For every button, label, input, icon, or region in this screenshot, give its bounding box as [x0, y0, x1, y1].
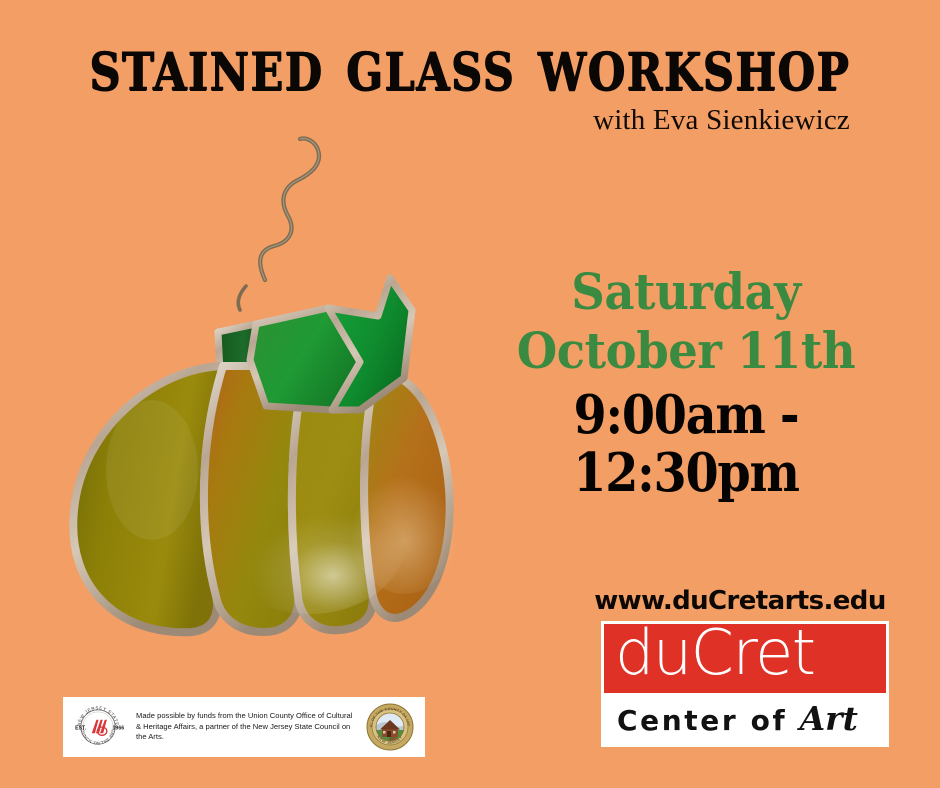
flyer-canvas: Stained Glass Workshop with Eva Sienkiew…: [0, 0, 940, 788]
svg-text:EST.: EST.: [75, 726, 87, 732]
glass-tendril: [238, 138, 319, 310]
ducret-tagline-center-of: Center of: [617, 704, 800, 737]
union-county-seal-icon: SEAL OF THE COUNTY OF UNION NEW JERSEY: [365, 702, 415, 752]
svg-text:1966: 1966: [113, 726, 124, 732]
nj-state-council-seal-icon: NEW JERSEY STATE COUNCIL ON THE ARTS EST…: [72, 701, 124, 753]
ducret-wordmark: duCret: [615, 624, 815, 689]
event-day: Saturday: [476, 262, 896, 321]
glass-leaves: [250, 278, 412, 410]
title-block: Stained Glass Workshop: [0, 28, 940, 89]
page-title: Stained Glass Workshop: [0, 28, 940, 102]
ducret-logo[interactable]: duCret Center of Art: [601, 621, 889, 747]
website-url[interactable]: www.duCretarts.edu: [560, 586, 920, 616]
ducret-tagline-art: Art: [800, 699, 858, 738]
event-time: 9:00am - 12:30pm: [483, 386, 890, 503]
funding-credit-text: Made possible by funds from the Union Co…: [124, 711, 365, 743]
event-date-block: Saturday October 11th 9:00am - 12:30pm: [460, 262, 912, 503]
ducret-logo-red-block: duCret: [604, 624, 886, 693]
stained-glass-pumpkin-artwork: [60, 110, 460, 640]
funding-credit-banner: NEW JERSEY STATE COUNCIL ON THE ARTS EST…: [63, 697, 425, 757]
ducret-logo-white-block: Center of Art: [604, 693, 886, 744]
event-date: October 11th: [476, 321, 896, 380]
ducret-tagline: Center of Art: [617, 699, 858, 738]
